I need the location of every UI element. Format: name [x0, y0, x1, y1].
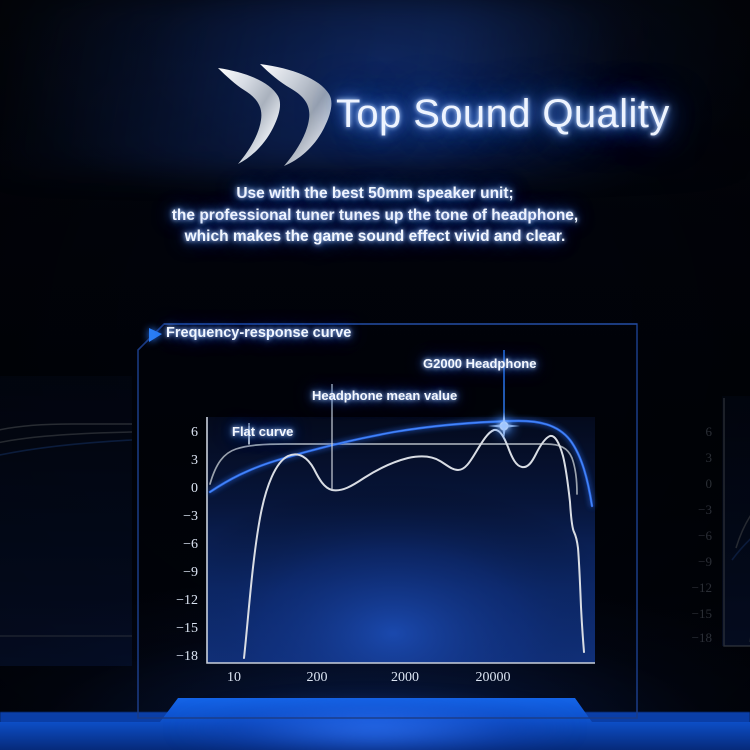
y-tick-label: −9 [164, 565, 198, 581]
y-tick-label: 3 [164, 453, 198, 469]
svg-text:−6: −6 [698, 528, 712, 543]
svg-text:6: 6 [706, 424, 713, 439]
svg-text:0: 0 [706, 476, 713, 491]
x-tick-label: 200 [289, 670, 345, 686]
subtitle-line-3: which makes the game sound effect vivid … [0, 226, 750, 248]
header: Top Sound Quality [0, 0, 750, 175]
subtitle-line-1: Use with the best 50mm speaker unit; [0, 183, 750, 205]
subtitle-block: Use with the best 50mm speaker unit; the… [0, 183, 750, 248]
annotation-flat-curve: Flat curve [232, 424, 293, 439]
svg-text:−12: −12 [692, 580, 712, 595]
svg-text:−3: −3 [698, 502, 712, 517]
svg-text:−9: −9 [698, 554, 712, 569]
double-crescent-wing-icon [216, 62, 334, 167]
y-tick-label: −3 [164, 509, 198, 525]
y-tick-label: 6 [164, 425, 198, 441]
svg-text:−15: −15 [692, 606, 712, 621]
y-tick-label: −6 [164, 537, 198, 553]
y-tick-label: 0 [164, 481, 198, 497]
annotation-g2000-headphone: G2000 Headphone [423, 356, 536, 371]
side-preview-left: 2000 00 [0, 336, 132, 696]
page-title: Top Sound Quality [336, 92, 670, 137]
slide-root: 2000 00 630 −3−6−9 −12−15−18 10 [0, 0, 750, 750]
frequency-response-panel: Frequency-response curve [136, 322, 639, 720]
y-tick-label: −12 [164, 593, 198, 609]
svg-text:−18: −18 [692, 630, 712, 645]
subtitle-line-2: the professional tuner tunes up the tone… [0, 205, 750, 227]
x-tick-label: 20000 [465, 670, 521, 686]
side-preview-right: 630 −3−6−9 −12−15−18 10 [664, 336, 750, 696]
frequency-response-chart [136, 322, 639, 720]
y-tick-label: −15 [164, 621, 198, 637]
x-tick-label: 10 [206, 670, 262, 686]
annotation-headphone-mean-value: Headphone mean value [312, 388, 457, 403]
x-tick-label: 2000 [377, 670, 433, 686]
y-tick-label: −18 [164, 649, 198, 665]
svg-text:3: 3 [706, 450, 713, 465]
